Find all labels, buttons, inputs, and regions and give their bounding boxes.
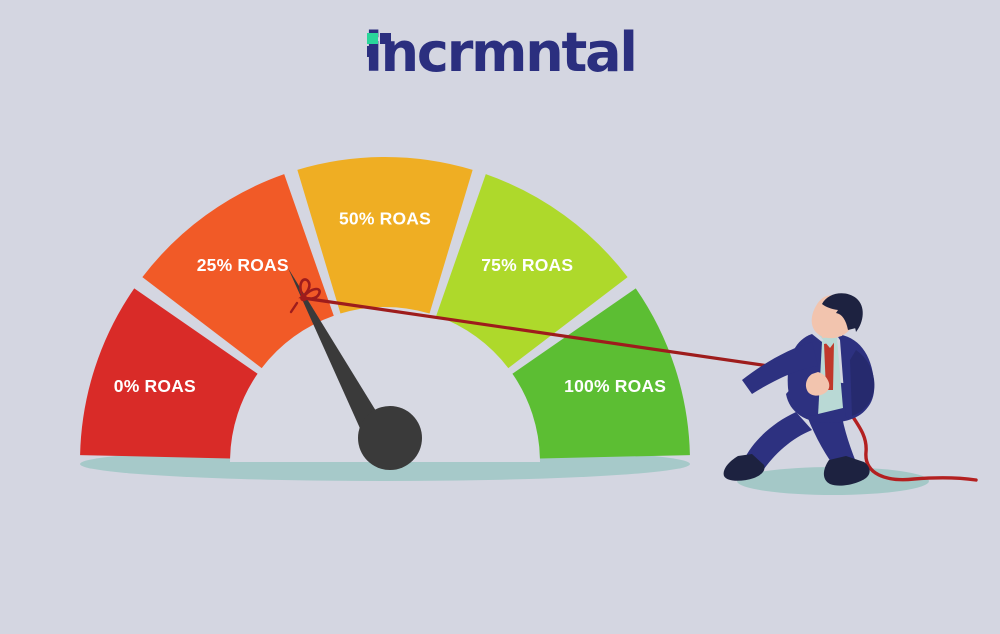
gauge-svg: 0% ROAS25% ROAS50% ROAS75% ROAS100% ROAS xyxy=(40,120,740,490)
logo-wordmark: incrmntal xyxy=(364,21,635,84)
brand-logo: incrmntal xyxy=(0,22,1000,84)
logo-dot-navy-icon xyxy=(380,33,391,44)
gauge-label-100: 100% ROAS xyxy=(564,376,666,396)
puller-svg xyxy=(700,290,980,520)
gauge-label-0: 0% ROAS xyxy=(114,376,196,396)
logo-dot-navy-icon xyxy=(367,46,378,57)
figure-jacket-shade xyxy=(850,350,874,416)
gauge-label-75: 75% ROAS xyxy=(481,255,573,275)
needle-hub-icon xyxy=(358,406,422,470)
logo-dot-green-icon xyxy=(367,33,378,44)
roas-gauge: 0% ROAS25% ROAS50% ROAS75% ROAS100% ROAS xyxy=(40,120,740,490)
puller-figure xyxy=(700,290,980,520)
illustration-canvas: incrmntal 0% ROAS25% ROAS50% ROAS75% ROA… xyxy=(0,0,1000,634)
gauge-label-50: 50% ROAS xyxy=(339,209,431,229)
gauge-label-25: 25% ROAS xyxy=(197,255,289,275)
